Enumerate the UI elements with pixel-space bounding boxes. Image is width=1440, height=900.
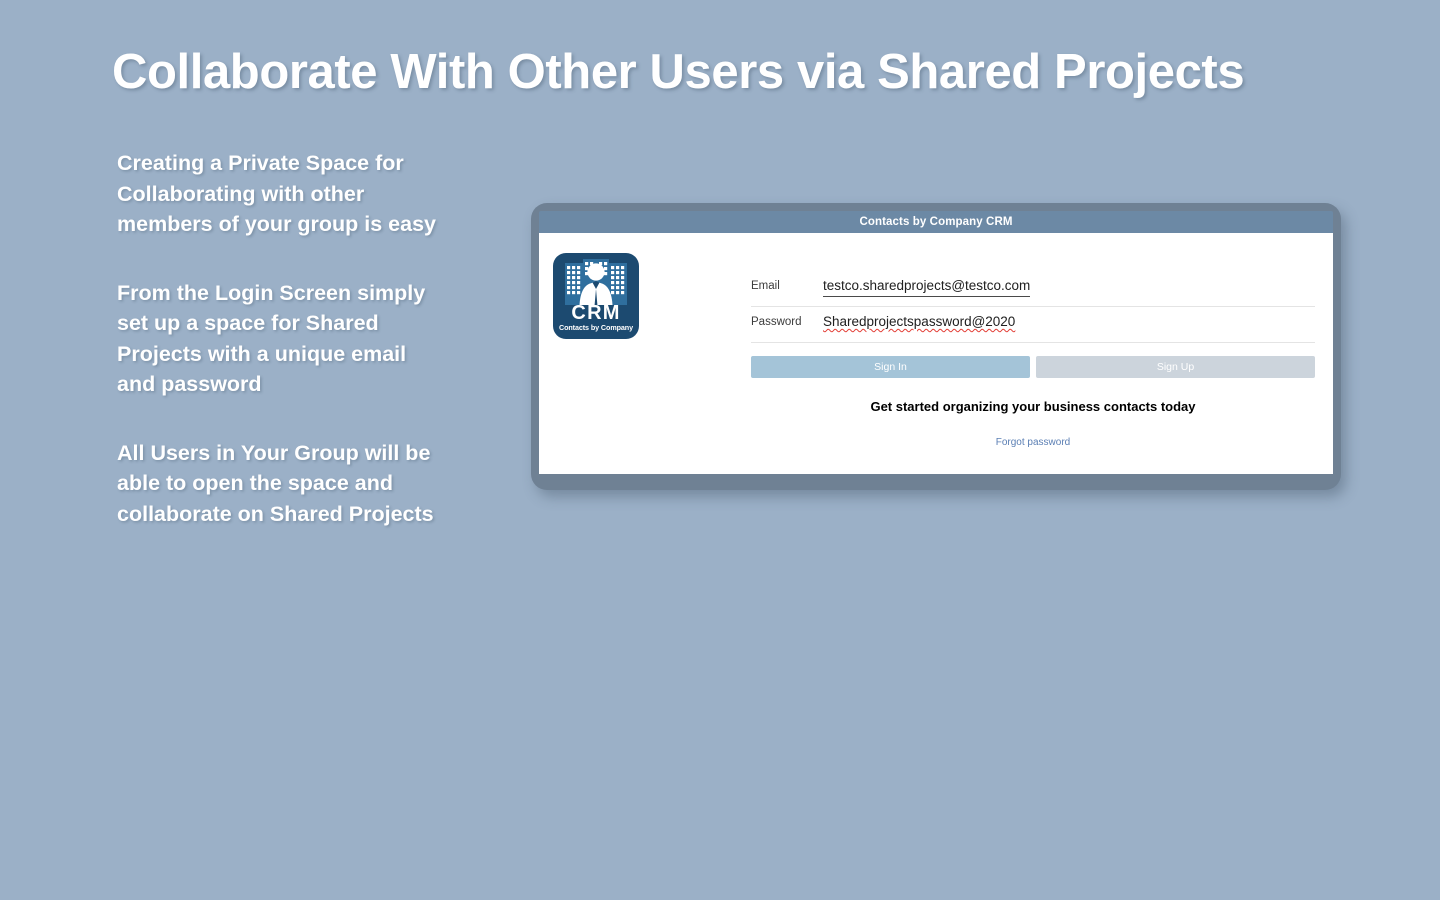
email-input[interactable]: testco.sharedprojects@testco.com xyxy=(823,271,1030,297)
email-field-row[interactable]: Email testco.sharedprojects@testco.com xyxy=(751,271,1315,307)
sign-in-button[interactable]: Sign In xyxy=(751,356,1030,378)
copy-block-2: From the Login Screen simply set up a sp… xyxy=(117,278,437,400)
forgot-password-link[interactable]: Forgot password xyxy=(751,437,1315,448)
password-field-row[interactable]: Password Sharedprojectspassword@2020 xyxy=(751,307,1315,343)
crm-logo-tagline: Contacts by Company xyxy=(558,323,634,332)
email-label: Email xyxy=(751,271,823,292)
crm-logo: CRM Contacts by Company xyxy=(553,253,639,339)
device-mockup: Contacts by Company CRM xyxy=(531,203,1341,490)
page-title: Collaborate With Other Users via Shared … xyxy=(112,44,1362,100)
copy-column: Creating a Private Space for Collaborati… xyxy=(117,148,437,529)
login-form: Email testco.sharedprojects@testco.com P… xyxy=(751,271,1315,448)
app-screen: CRM Contacts by Company Email testco.sha… xyxy=(539,233,1333,474)
building-person-icon xyxy=(565,259,627,305)
auth-button-row: Sign In Sign Up xyxy=(751,356,1315,378)
form-tagline: Get started organizing your business con… xyxy=(751,399,1315,414)
password-input[interactable]: Sharedprojectspassword@2020 xyxy=(823,307,1015,331)
copy-block-3: All Users in Your Group will be able to … xyxy=(117,438,437,530)
password-label: Password xyxy=(751,307,823,328)
copy-block-1: Creating a Private Space for Collaborati… xyxy=(117,148,437,240)
sign-up-button[interactable]: Sign Up xyxy=(1036,356,1315,378)
crm-logo-brand: CRM xyxy=(558,303,634,324)
crm-logo-inner: CRM Contacts by Company xyxy=(558,258,634,334)
app-titlebar: Contacts by Company CRM xyxy=(539,211,1333,233)
app-title: Contacts by Company CRM xyxy=(859,216,1012,228)
